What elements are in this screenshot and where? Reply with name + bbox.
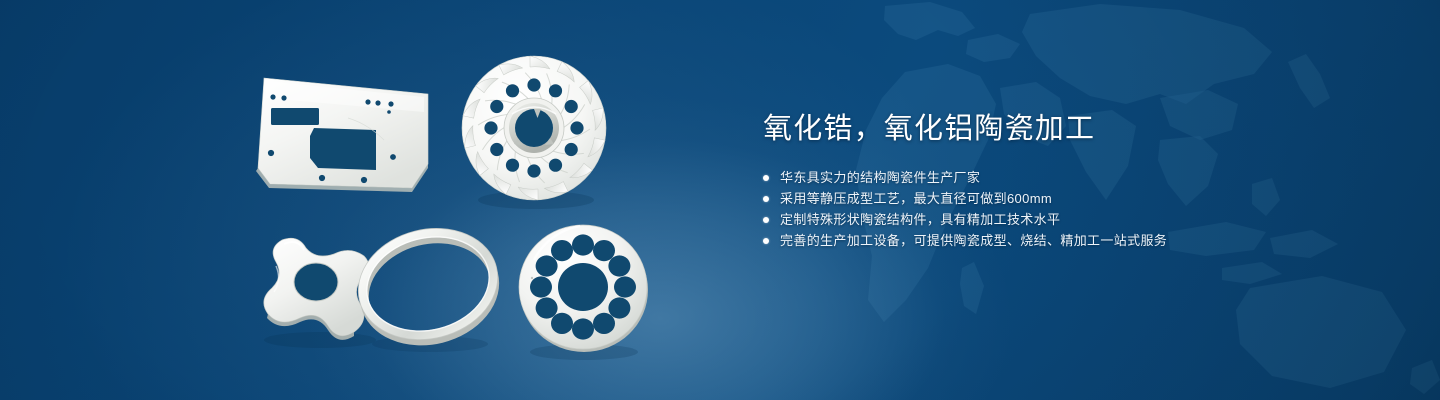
ceramic-disc xyxy=(508,216,660,364)
page-title: 氧化锆，氧化铝陶瓷加工 xyxy=(763,112,1323,146)
feature-text: 华东具实力的结构陶瓷件生产厂家 xyxy=(780,167,980,188)
ceramic-ring xyxy=(338,218,514,358)
list-item: 定制特殊形状陶瓷结构件，具有精加工技术水平 xyxy=(763,209,1323,230)
feature-list: 华东具实力的结构陶瓷件生产厂家 采用等静压成型工艺，最大直径可做到600mm 定… xyxy=(763,167,1323,251)
ceramic-impeller xyxy=(450,48,620,218)
feature-text: 采用等静压成型工艺，最大直径可做到600mm xyxy=(780,188,1052,209)
banner-text-column: 氧化锆，氧化铝陶瓷加工 华东具实力的结构陶瓷件生产厂家 采用等静压成型工艺，最大… xyxy=(763,112,1323,251)
product-photo-cluster xyxy=(0,0,740,400)
feature-text: 完善的生产加工设备，可提供陶瓷成型、烧结、精加工一站式服务 xyxy=(780,230,1167,251)
bullet-dot-icon xyxy=(763,238,769,244)
list-item: 华东具实力的结构陶瓷件生产厂家 xyxy=(763,167,1323,188)
bullet-dot-icon xyxy=(763,175,769,181)
list-item: 完善的生产加工设备，可提供陶瓷成型、烧结、精加工一站式服务 xyxy=(763,230,1323,251)
feature-text: 定制特殊形状陶瓷结构件，具有精加工技术水平 xyxy=(780,209,1060,230)
ceramic-plate xyxy=(252,72,432,194)
bullet-dot-icon xyxy=(763,196,769,202)
hero-banner: 氧化锆，氧化铝陶瓷加工 华东具实力的结构陶瓷件生产厂家 采用等静压成型工艺，最大… xyxy=(0,0,1440,400)
bullet-dot-icon xyxy=(763,217,769,223)
list-item: 采用等静压成型工艺，最大直径可做到600mm xyxy=(763,188,1323,209)
